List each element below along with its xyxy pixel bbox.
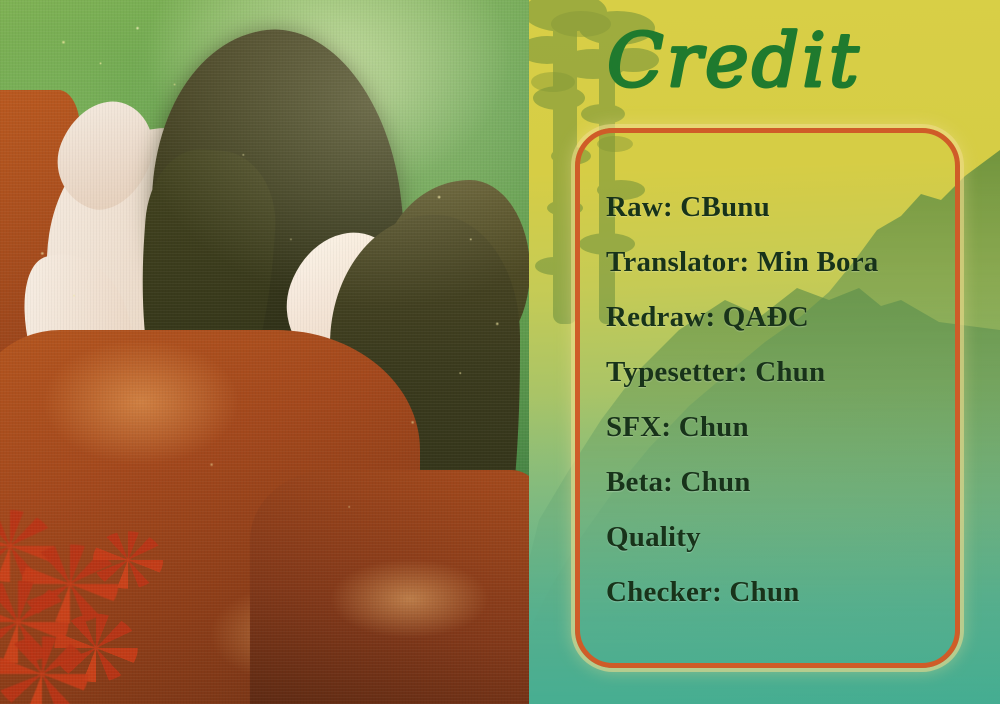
credit-line-typesetter: Typesetter: Chun (606, 358, 946, 387)
credit-line-sfx: SFX: Chun (606, 413, 946, 442)
couple-illustration (0, 0, 529, 704)
credit-line-raw: Raw: CBunu (606, 193, 946, 222)
credit-line-quality: Quality (606, 523, 946, 552)
credit-line-beta: Beta: Chun (606, 468, 946, 497)
credit-title-text: Credit (607, 18, 862, 104)
credit-line-checker: Checker: Chun (606, 578, 946, 607)
credit-line-translator: Translator: Min Bora (606, 248, 946, 277)
page-title: Credit (601, 16, 961, 108)
light-speckles-overlay (0, 0, 529, 704)
credit-line-redraw: Redraw: QAĐC (606, 303, 946, 332)
credits-page: Credit Raw: CBunu Translator: Min Bora R… (0, 0, 1000, 704)
credit-panel: Credit Raw: CBunu Translator: Min Bora R… (529, 0, 1000, 704)
credit-list: Raw: CBunu Translator: Min Bora Redraw: … (606, 193, 946, 633)
credit-title-script: Credit (601, 16, 961, 108)
